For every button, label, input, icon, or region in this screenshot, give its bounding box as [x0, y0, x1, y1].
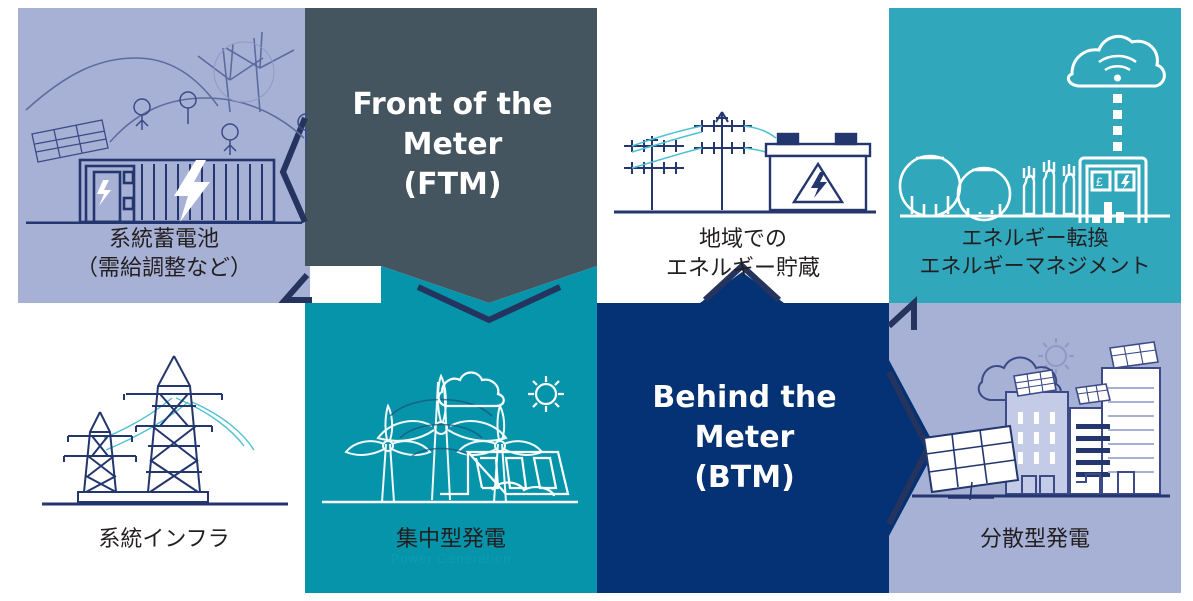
caption-grid-battery: 系統蓄電池 （需給調整など）	[18, 225, 310, 283]
diagram-canvas: £	[0, 0, 1193, 601]
caption-grid-infrastructure: 系統インフラ	[18, 525, 310, 554]
btm-label-line-1: Behind the	[622, 378, 867, 418]
solar-buildings-icon	[910, 330, 1172, 515]
utility-pole-battery-icon	[610, 100, 880, 225]
cloud-smartmeter-tanks-icon: £	[898, 18, 1173, 223]
caption-energy-conversion: エネルギー転換 エネルギーマネジメント	[889, 225, 1181, 280]
grid-battery-container-icon	[18, 14, 310, 224]
caption-line-1: 地域での	[597, 225, 889, 254]
caption-distributed-generation: 分散型発電	[889, 525, 1181, 554]
transmission-tower-icon	[40, 350, 290, 515]
ftm-label-line-1: Front of the	[330, 85, 575, 125]
caption-line-1: 系統蓄電池	[18, 225, 310, 254]
caption-line-1: 系統インフラ	[18, 525, 310, 554]
caption-line-2: エネルギーマネジメント	[889, 253, 1181, 281]
ftm-arrow-notch-fill	[381, 266, 597, 303]
caption-community-storage: 地域での エネルギー貯蔵	[597, 225, 889, 283]
btm-arrow-label: Behind the Meter (BTM)	[622, 378, 867, 498]
caption-line-2: （需給調整など）	[18, 254, 310, 283]
ftm-label-line-2: Meter	[330, 125, 575, 165]
caption-line-2: エネルギー貯蔵	[597, 254, 889, 283]
btm-label-line-3: (BTM)	[622, 458, 867, 498]
ftm-arrow-label: Front of the Meter (FTM)	[330, 85, 575, 205]
caption-line-1: 集中型発電	[305, 525, 597, 554]
caption-centralized-generation: 集中型発電	[305, 525, 597, 554]
caption-centralized-generation-ghost: Power Generation	[305, 551, 597, 566]
caption-line-1: エネルギー転換	[889, 225, 1181, 253]
caption-line-1: 分散型発電	[889, 525, 1181, 554]
wind-turbines-dam-icon	[320, 360, 582, 520]
svg-text:£: £	[1096, 175, 1103, 189]
ftm-label-line-3: (FTM)	[330, 165, 575, 205]
btm-label-line-2: Meter	[622, 418, 867, 458]
